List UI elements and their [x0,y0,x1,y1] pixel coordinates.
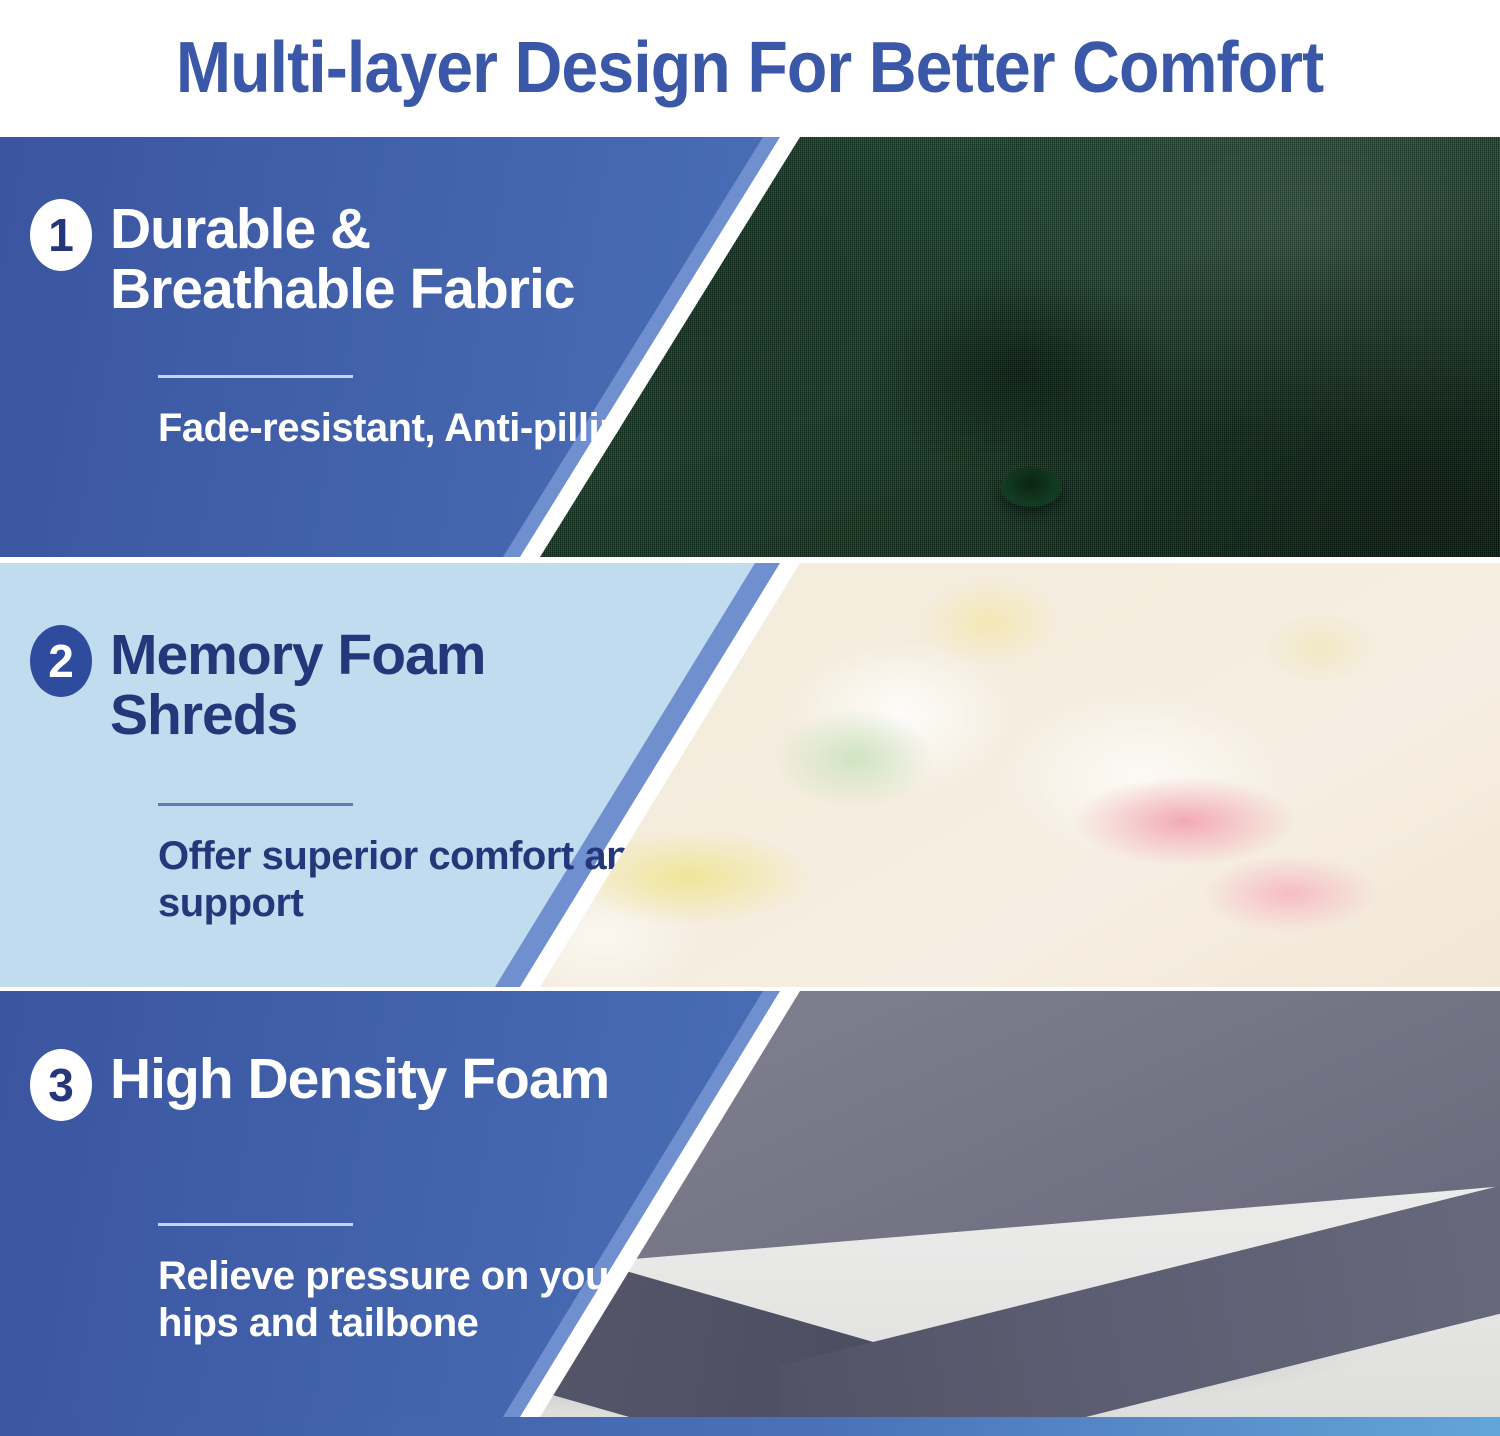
panel-1-copy: 1 Durable & Breathable Fabric Fade-resis… [30,137,670,557]
panel-3-subtitle: Relieve pressure on your hips and tailbo… [158,1253,658,1347]
bottom-accent-strip [0,1417,1500,1436]
panel-3-heading-row: 3 High Density Foam [30,1049,609,1121]
panel-2-subtitle: Offer superior comfort and support [158,833,658,927]
feature-panel-1: 1 Durable & Breathable Fabric Fade-resis… [0,137,1500,557]
panel-2-divider [158,803,353,806]
step-badge-3: 3 [30,1049,92,1121]
step-number-2: 2 [48,638,74,684]
panel-1-divider [158,375,353,378]
panel-1-headline: Durable & Breathable Fabric [110,199,650,320]
panel-3-copy: 3 High Density Foam Relieve pressure on … [30,991,670,1417]
panel-gap-1 [0,557,1500,563]
panel-3-divider [158,1223,353,1226]
panel-1-subtitle: Fade-resistant, Anti-pilling [158,405,658,452]
panel-2-heading-row: 2 Memory Foam Shreds [30,625,650,746]
title-bar: Multi-layer Design For Better Comfort [0,0,1500,135]
feature-panel-3: 3 High Density Foam Relieve pressure on … [0,991,1500,1417]
panel-gap-2 [0,987,1500,991]
feature-panel-2: 2 Memory Foam Shreds Offer superior comf… [0,563,1500,987]
panel-1-heading-row: 1 Durable & Breathable Fabric [30,199,650,320]
step-badge-2: 2 [30,625,92,697]
panel-2-headline: Memory Foam Shreds [110,625,650,746]
panel-2-copy: 2 Memory Foam Shreds Offer superior comf… [30,563,670,987]
step-badge-1: 1 [30,199,92,271]
panel-3-headline: High Density Foam [110,1049,609,1109]
page-title: Multi-layer Design For Better Comfort [176,27,1323,109]
step-number-1: 1 [48,212,74,258]
step-number-3: 3 [48,1062,74,1108]
tuft-button-dimple [1000,467,1062,507]
